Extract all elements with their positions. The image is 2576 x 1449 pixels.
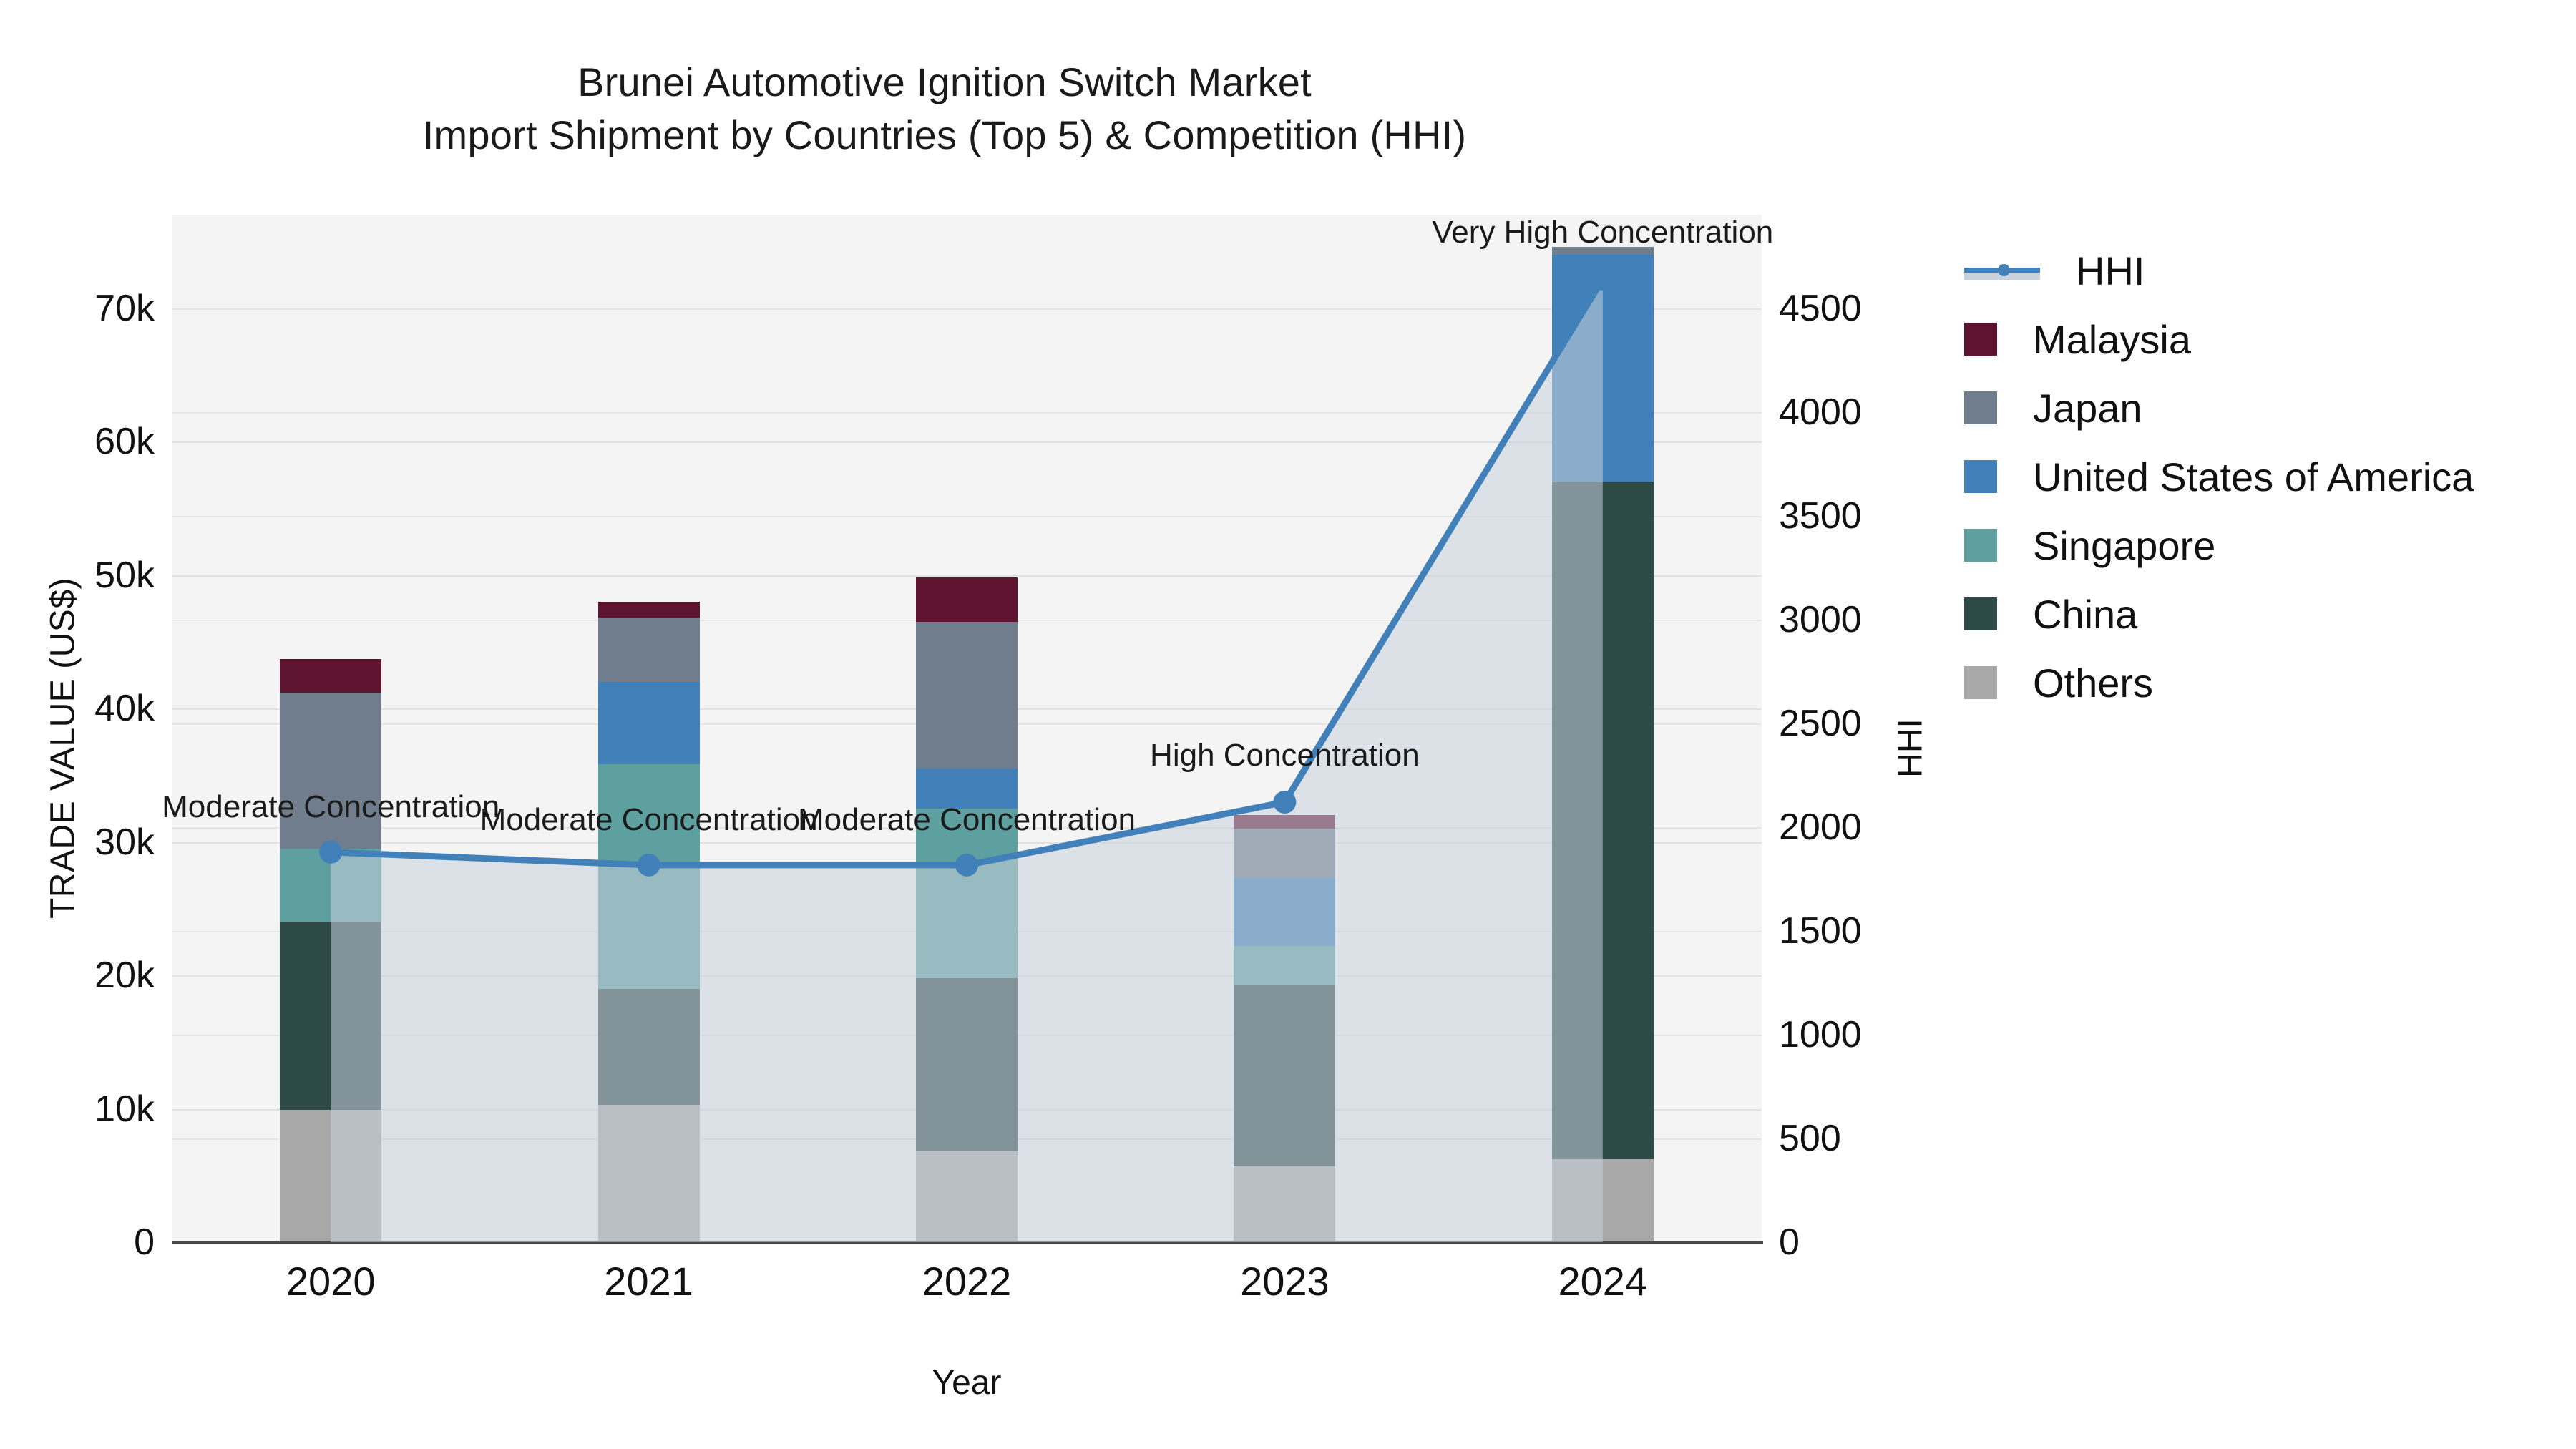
hhi-annotation: Very High Concentration: [1432, 215, 1773, 250]
hhi-annotation: Moderate Concentration: [162, 789, 499, 825]
hhi-marker[interactable]: [1591, 268, 1614, 291]
legend: HHIMalaysiaJapanUnited States of America…: [1964, 236, 2551, 717]
y-axis-right-tick-label: 3000: [1779, 598, 1862, 641]
y-axis-left-tick-label: 60k: [94, 420, 155, 463]
y-axis-left-tick-label: 20k: [94, 954, 155, 997]
legend-item-label: United States of America: [2033, 454, 2474, 500]
legend-item-label: Others: [2033, 660, 2153, 706]
y-axis-right-tick-label: 4500: [1779, 287, 1862, 330]
legend-item[interactable]: United States of America: [1964, 442, 2551, 511]
legend-item[interactable]: Singapore: [1964, 511, 2551, 580]
hhi-overlay: [0, 0, 2576, 1449]
legend-swatch-icon: [1964, 460, 1997, 493]
y-axis-right-tick-label: 1500: [1779, 909, 1862, 952]
legend-item-label: Malaysia: [2033, 316, 2191, 363]
y-axis-left-tick-label: 70k: [94, 287, 155, 330]
y-axis-left-tick-label: 30k: [94, 821, 155, 864]
legend-item[interactable]: China: [1964, 580, 2551, 648]
hhi-marker[interactable]: [955, 854, 978, 877]
y-axis-right-tick-label: 2000: [1779, 806, 1862, 849]
y-axis-left-tick-label: 50k: [94, 554, 155, 597]
legend-item-label: Japan: [2033, 385, 2142, 431]
legend-swatch-icon: [1964, 391, 1997, 424]
hhi-marker[interactable]: [1273, 791, 1296, 814]
legend-item[interactable]: Japan: [1964, 374, 2551, 442]
hhi-marker[interactable]: [638, 854, 660, 877]
legend-swatch-icon: [1964, 323, 1997, 356]
legend-item[interactable]: Others: [1964, 648, 2551, 717]
hhi-annotation: High Concentration: [1150, 738, 1420, 774]
y-axis-left-tick-label: 0: [134, 1221, 155, 1264]
legend-item-label: HHI: [2076, 248, 2145, 294]
y-axis-left-tick-label: 10k: [94, 1088, 155, 1131]
hhi-marker[interactable]: [319, 841, 342, 864]
hhi-annotation: Moderate Concentration: [480, 802, 818, 838]
y-axis-right-tick-label: 2500: [1779, 702, 1862, 745]
chart-root: Brunei Automotive Ignition Switch Market…: [0, 0, 2576, 1449]
y-axis-right-label: HHI: [1891, 641, 1931, 856]
x-axis-tick-label: 2021: [604, 1258, 693, 1304]
x-axis-tick-label: 2022: [922, 1258, 1012, 1304]
legend-item[interactable]: HHI: [1964, 236, 2551, 305]
y-axis-right-tick-label: 1000: [1779, 1013, 1862, 1056]
legend-swatch-icon: [1964, 666, 1997, 699]
x-axis-tick-label: 2020: [286, 1258, 376, 1304]
legend-item-label: China: [2033, 591, 2137, 638]
x-axis-label: Year: [172, 1363, 1762, 1402]
x-axis-tick-label: 2024: [1558, 1258, 1648, 1304]
legend-line-marker-icon: [1964, 254, 2040, 287]
legend-swatch-icon: [1964, 597, 1997, 630]
y-axis-right-tick-label: 3500: [1779, 494, 1862, 537]
legend-item-label: Singapore: [2033, 522, 2215, 569]
legend-item[interactable]: Malaysia: [1964, 305, 2551, 374]
y-axis-left-label: TRADE VALUE (US$): [44, 498, 83, 999]
hhi-annotation: Moderate Concentration: [798, 802, 1136, 838]
y-axis-right-tick-label: 500: [1779, 1117, 1841, 1160]
legend-swatch-icon: [1964, 529, 1997, 562]
y-axis-left-tick-label: 40k: [94, 687, 155, 730]
y-axis-right-tick-label: 4000: [1779, 391, 1862, 434]
x-axis-tick-label: 2023: [1240, 1258, 1330, 1304]
y-axis-right-tick-label: 0: [1779, 1221, 1800, 1264]
